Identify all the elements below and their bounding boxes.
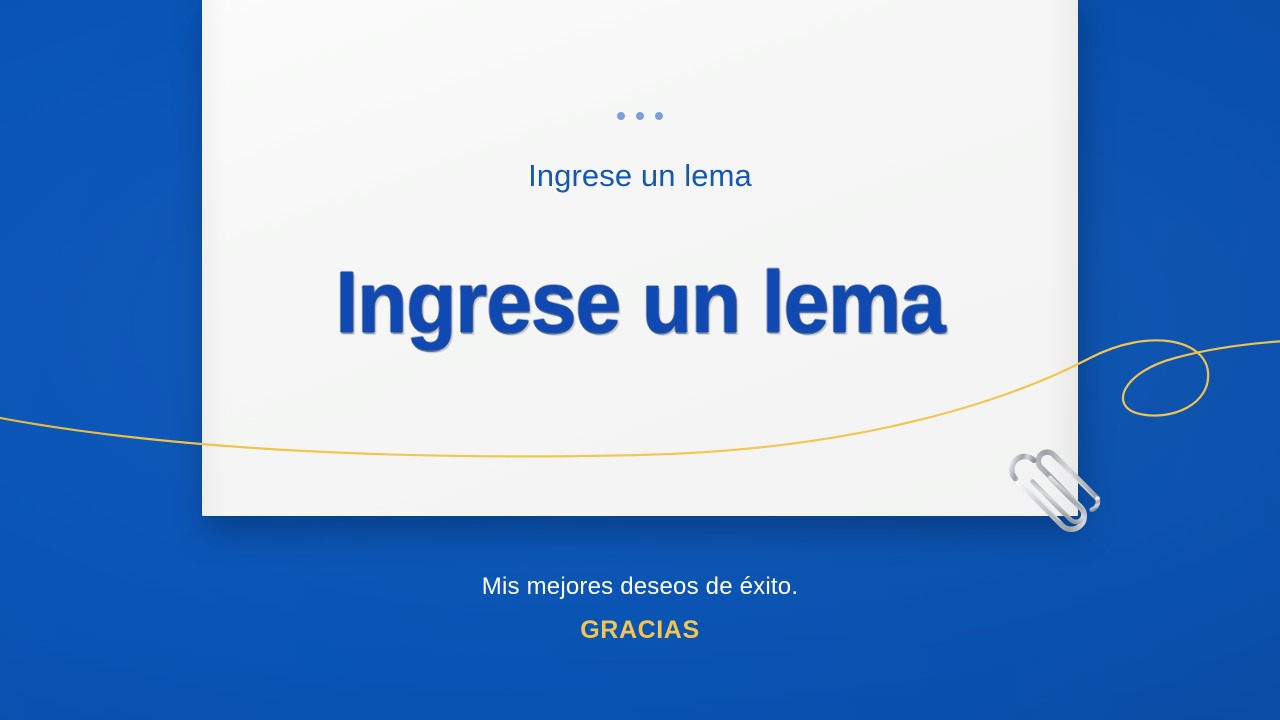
- slide-headline[interactable]: Ingrese un lema: [202, 258, 1078, 349]
- dot-icon-1: [617, 112, 625, 120]
- slide-footer: Mis mejores deseos de éxito. GRACIAS: [0, 570, 1280, 646]
- dot-icon-2: [636, 112, 644, 120]
- slide-subtitle[interactable]: Ingrese un lema: [202, 156, 1078, 196]
- closing-message: Mis mejores deseos de éxito.: [0, 570, 1280, 604]
- slide-card: Ingrese un lema Ingrese un lema: [202, 0, 1078, 516]
- thanks-text: GRACIAS: [0, 614, 1280, 646]
- presentation-slide: Ingrese un lema Ingrese un lema: [0, 0, 1280, 720]
- decorative-dots: [202, 104, 1078, 128]
- dot-icon-3: [655, 112, 663, 120]
